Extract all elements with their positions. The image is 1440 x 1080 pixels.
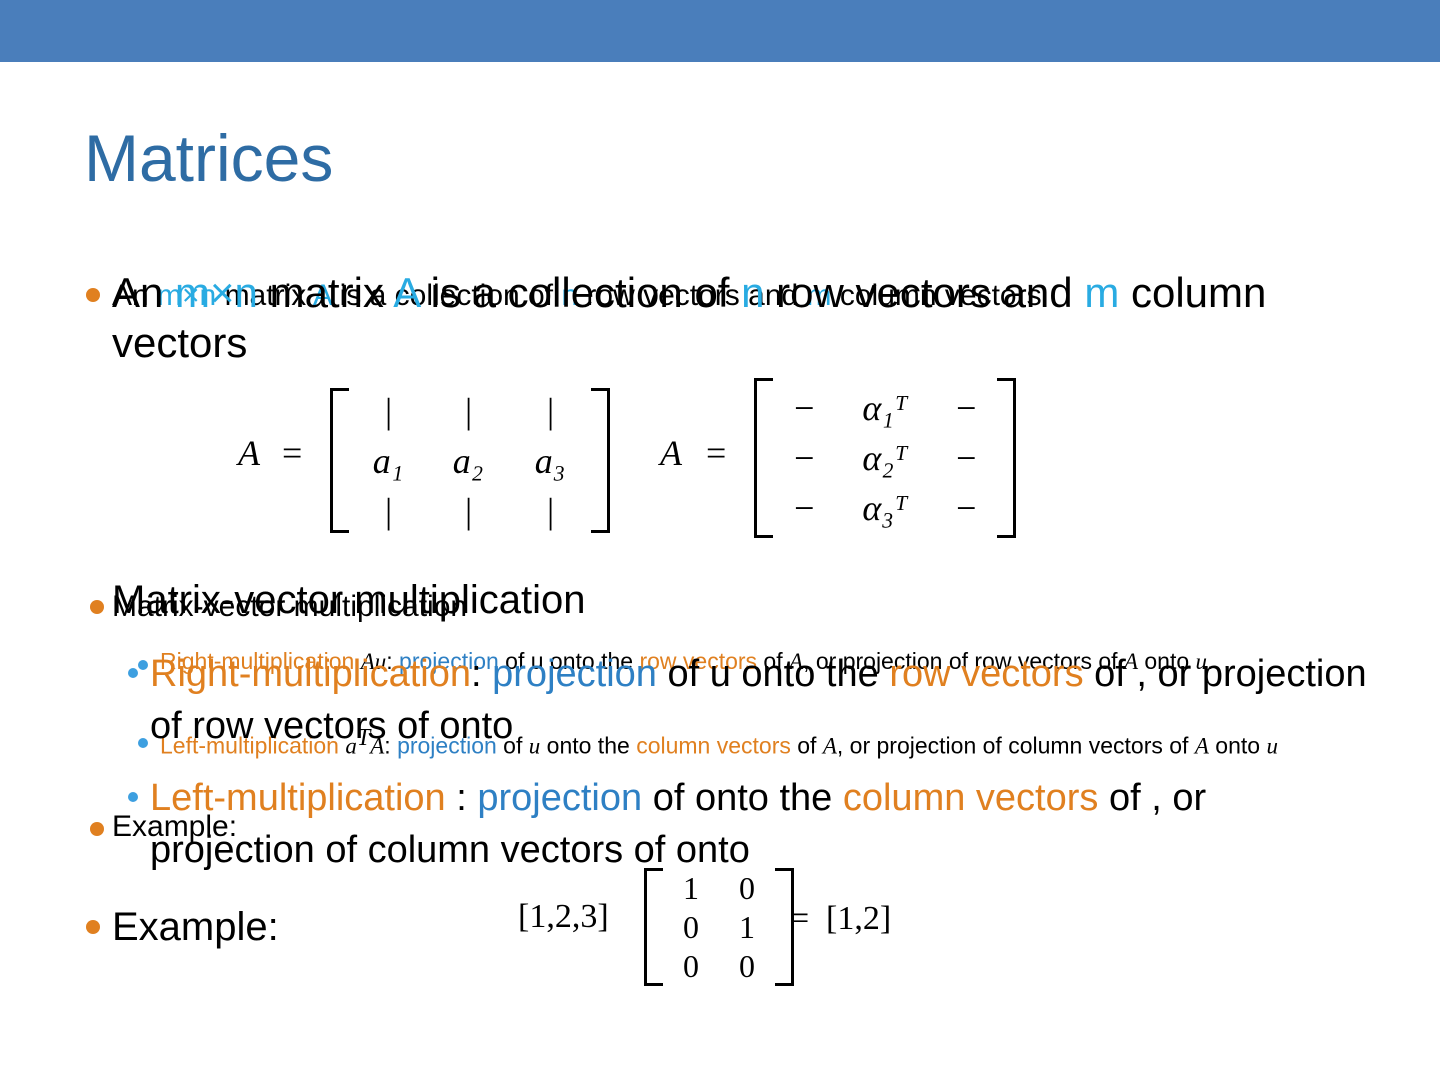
equation-column-equals: =	[282, 432, 302, 474]
bullet-3-text: Example:	[112, 905, 279, 950]
equation-example-matrix: 1 0 0 1 0 0	[644, 868, 794, 986]
table-row: a₁ a₂ a₃	[349, 436, 591, 486]
subbullet-marker-2	[128, 792, 138, 802]
equation-row-matrix: − α₁ᵀ − − α₂ᵀ − − α₃ᵀ −	[754, 378, 1016, 538]
subbullet-1-rowvectors: row vectors	[889, 653, 1083, 695]
subbullet-marker-1-small	[138, 660, 148, 670]
equation-example-equals: =	[790, 900, 809, 938]
subbullet-2-projection: projection	[477, 777, 642, 819]
table-row: − α₃ᵀ −	[773, 483, 997, 533]
subbullet-2-colon: :	[446, 777, 478, 819]
bullet-1-part2: matrix	[258, 269, 393, 316]
bullet-marker-1	[86, 288, 100, 302]
equation-column-lhs: A	[238, 432, 260, 474]
bullet-1-mxn: m×n	[175, 269, 258, 316]
page-title: Matrices	[84, 120, 333, 196]
equation-example-result: [1,2]	[826, 900, 891, 938]
subbullet-1-projection: projection	[492, 653, 657, 695]
table-row: 1 0	[663, 869, 775, 908]
bullet-marker-2-small	[90, 600, 104, 614]
bullet-1-part4: row vectors and	[765, 269, 1085, 316]
equation-row-lhs: A	[660, 432, 682, 474]
bullet-marker-3-small	[90, 822, 104, 836]
bullet-1-A: A	[393, 269, 419, 316]
table-row: − α₁ᵀ −	[773, 383, 997, 433]
table-row: − α₂ᵀ −	[773, 433, 997, 483]
bullet-1-part3: is a collection of	[419, 269, 741, 316]
subbullet-1-label: Right-multiplication	[150, 653, 471, 695]
bracket-left-icon	[330, 388, 349, 533]
table-row: 0 1	[663, 908, 775, 947]
subbullet-1-rest1: of u onto the	[657, 653, 889, 695]
table-row: | | |	[349, 386, 591, 436]
table-row: 0 0	[663, 947, 775, 986]
subbullet-2-columnvectors: column vectors	[843, 777, 1099, 819]
slide-accent-bar	[0, 0, 1440, 62]
subbullet-1-colon: :	[471, 653, 492, 695]
subbullet-marker-1	[128, 668, 138, 678]
bullet-marker-3	[86, 920, 100, 934]
subbullet-2-rest1: of onto the	[642, 777, 843, 819]
bracket-left-icon-2	[754, 378, 773, 538]
bullet-1-part1: An	[112, 269, 175, 316]
bullet-1-n: n	[741, 269, 764, 316]
table-row: | | |	[349, 486, 591, 536]
subbullet-marker-2-small	[138, 738, 148, 748]
equation-column-matrix: | | | a₁ a₂ a₃ | | |	[330, 388, 610, 533]
bracket-left-icon-3	[644, 868, 663, 986]
equation-row-equals: =	[706, 432, 726, 474]
bullet-1-m: m	[1084, 269, 1119, 316]
equation-example-vector: [1,2,3]	[518, 898, 609, 936]
bracket-right-icon	[591, 388, 610, 533]
subbullet-2-text: Left-multiplication : projection of onto…	[150, 772, 1350, 876]
subbullet-1-text: Right-multiplication: projection of u on…	[150, 648, 1400, 752]
bullet-2-text: Matrix-vector multiplication	[112, 578, 585, 623]
bracket-right-icon-2	[997, 378, 1016, 538]
subbullet-2-label: Left-multiplication	[150, 777, 446, 819]
bullet-1-text: An m×n matrix A is a collection of n row…	[112, 268, 1372, 368]
